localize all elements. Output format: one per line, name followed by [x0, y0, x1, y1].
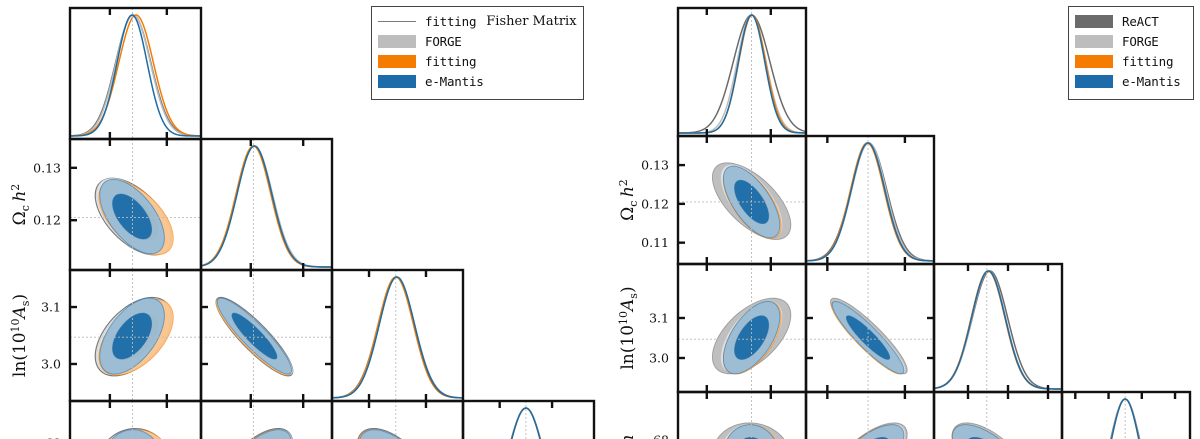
legend-item-fitting-fisher: fitting Fisher Matrix: [378, 11, 576, 31]
legend-line-swatch: [378, 15, 416, 28]
legend-item-emantis: e-Mantis: [378, 71, 576, 91]
y-axis-title: ln(1010As): [617, 286, 640, 369]
density-curve-e-mantis: [806, 143, 934, 261]
density-curve-forge: [1062, 399, 1190, 439]
legend-item-forge: FORGE: [378, 31, 576, 51]
legend-color-swatch: [1075, 35, 1113, 48]
density-curve-e-mantis: [934, 271, 1062, 389]
panel-frame: [678, 8, 806, 136]
legend-item-react: ReACT: [1075, 11, 1186, 31]
legend-label: FORGE: [1122, 34, 1159, 49]
y-axis-title: Ωc h2: [617, 179, 640, 221]
y-tick-label: 3.0: [649, 351, 669, 366]
legend-color-swatch: [378, 35, 416, 48]
legend-label-secondary: Fisher Matrix: [486, 14, 576, 29]
density-curve-fitting: [1062, 399, 1190, 439]
density-curve-react: [806, 143, 934, 261]
legend-label: fitting: [425, 54, 476, 69]
y-tick-label: 3.1: [649, 311, 669, 326]
y-tick-label: 68: [653, 433, 669, 439]
legend-item-forge: FORGE: [1075, 31, 1186, 51]
legend-item-fitting: fitting: [1075, 51, 1186, 71]
legend-label: e-Mantis: [425, 74, 484, 89]
y-tick-label: 0.13: [641, 158, 669, 173]
figure-canvas: −5.5−5.0log10 |fR0|0.120.13Ωc h23.03.1ln…: [0, 0, 1200, 439]
legend-item-emantis: e-Mantis: [1075, 71, 1186, 91]
y-tick-label: 0.11: [641, 235, 669, 250]
density-curve-forge: [806, 143, 934, 261]
panel-frame: [806, 136, 934, 264]
legend-label: e-Mantis: [1122, 74, 1181, 89]
density-curve-fitting: [806, 143, 934, 261]
right-corner-svg: −6−5log10 |fR0|0.110.13Ωc h23.03.13.2ln(…: [0, 0, 1200, 439]
right-legend: ReACT FORGE fitting e-Mantis: [1068, 6, 1194, 100]
legend-label: fitting: [1122, 54, 1173, 69]
right-corner-plot: −6−5log10 |fR0|0.110.13Ωc h23.03.13.2ln(…: [0, 0, 1200, 439]
density-curve-react: [1062, 399, 1190, 439]
legend-item-fitting: fitting: [378, 51, 576, 71]
legend-label: fitting: [425, 14, 476, 29]
contour-e-mantis-2sigma: [952, 425, 1024, 439]
density-curve-react: [678, 15, 806, 133]
legend-color-swatch: [1075, 15, 1113, 28]
legend-label: FORGE: [425, 34, 462, 49]
y-axis-title: 100h: [618, 434, 638, 439]
left-legend: fitting Fisher Matrix FORGE fitting e-Ma…: [371, 6, 584, 100]
density-curve-e-mantis: [1062, 399, 1190, 439]
y-tick-label: 0.12: [641, 196, 669, 211]
legend-label: ReACT: [1122, 14, 1159, 29]
legend-color-swatch: [378, 75, 416, 88]
legend-color-swatch: [378, 55, 416, 68]
legend-color-swatch: [1075, 55, 1113, 68]
legend-color-swatch: [1075, 75, 1113, 88]
